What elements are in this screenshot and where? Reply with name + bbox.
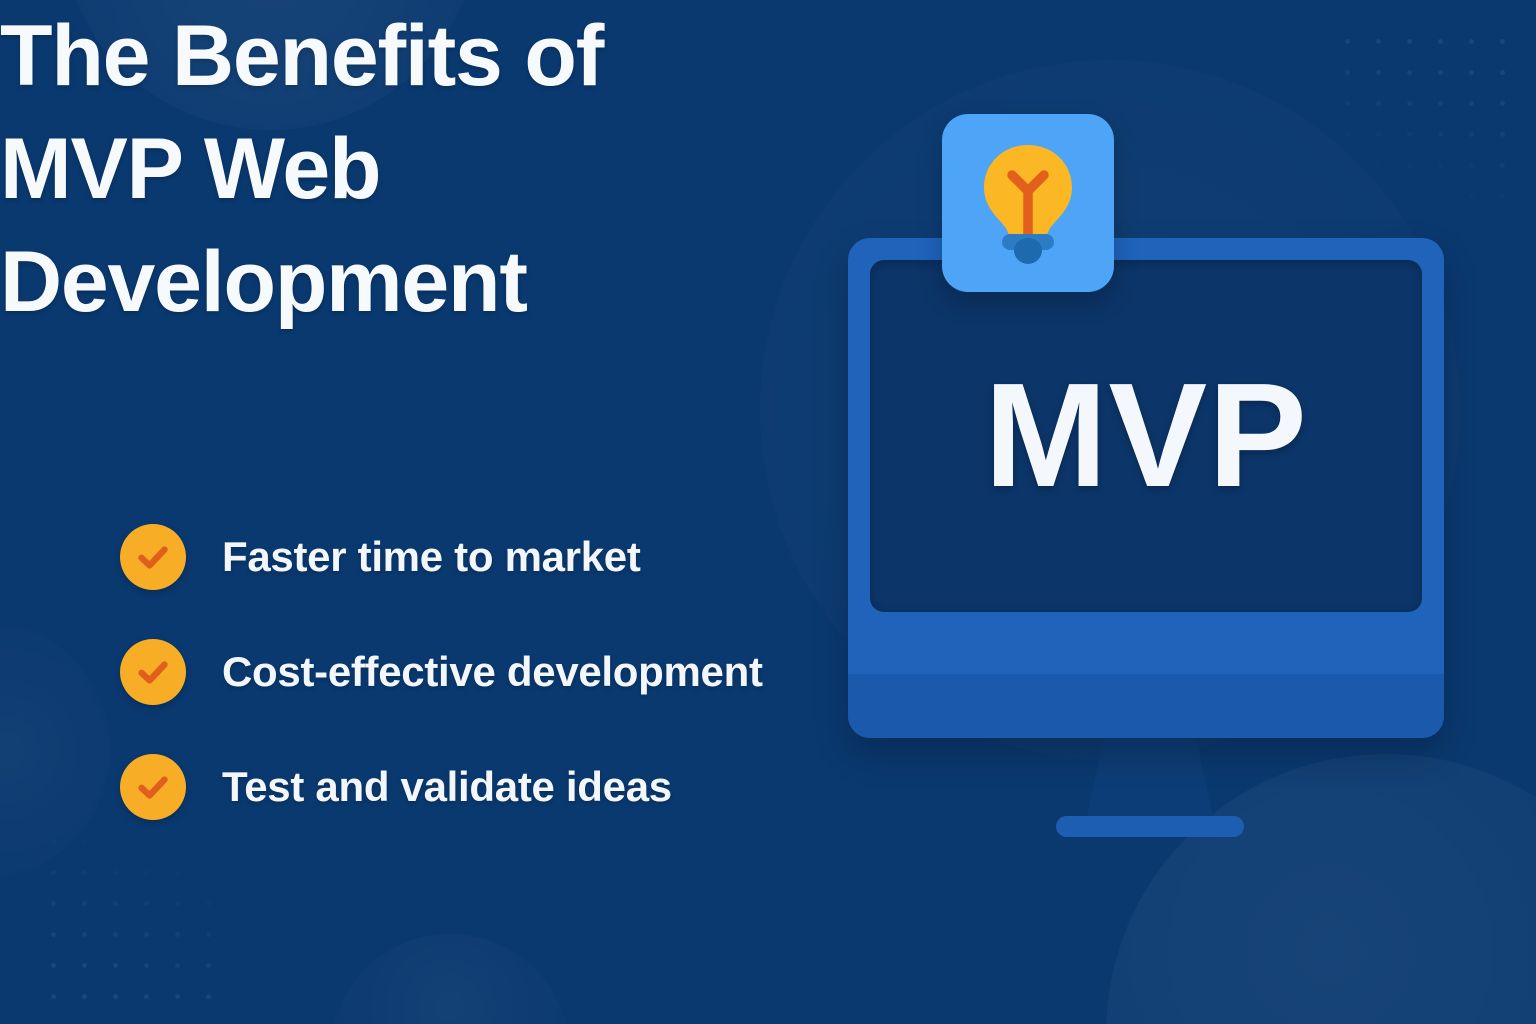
list-item-label: Faster time to market [222,533,641,581]
screen-label: MVP [984,362,1308,510]
soft-circle-left-lower [0,620,110,880]
monitor-stand-neck [1086,726,1214,820]
list-item: Test and validate ideas [120,748,940,825]
lightbulb-card [942,114,1114,292]
soft-circle-bottom-middle [330,934,570,1024]
list-item-label: Cost-effective development [222,648,763,696]
monitor-screen: MVP [870,260,1422,612]
list-item: Faster time to market [120,518,940,595]
check-circle-icon [120,524,186,590]
lightbulb-icon [974,139,1082,267]
dot-grid-bottom-left-icon [38,826,218,1006]
monitor-stand-base [1056,816,1244,837]
list-item-label: Test and validate ideas [222,763,672,811]
check-circle-icon [120,754,186,820]
list-item: Cost-effective development [120,633,940,710]
monitor-bezel: MVP [848,238,1444,738]
monitor-chin [848,674,1444,738]
desktop-monitor-icon: MVP [820,100,1480,780]
slide-canvas: The Benefits of MVP Web Development Fast… [0,0,1536,1024]
check-circle-icon [120,639,186,705]
page-title-line-1: The Benefits of [0,0,1536,113]
benefits-list: Faster time to market Cost-effective dev… [120,518,940,825]
